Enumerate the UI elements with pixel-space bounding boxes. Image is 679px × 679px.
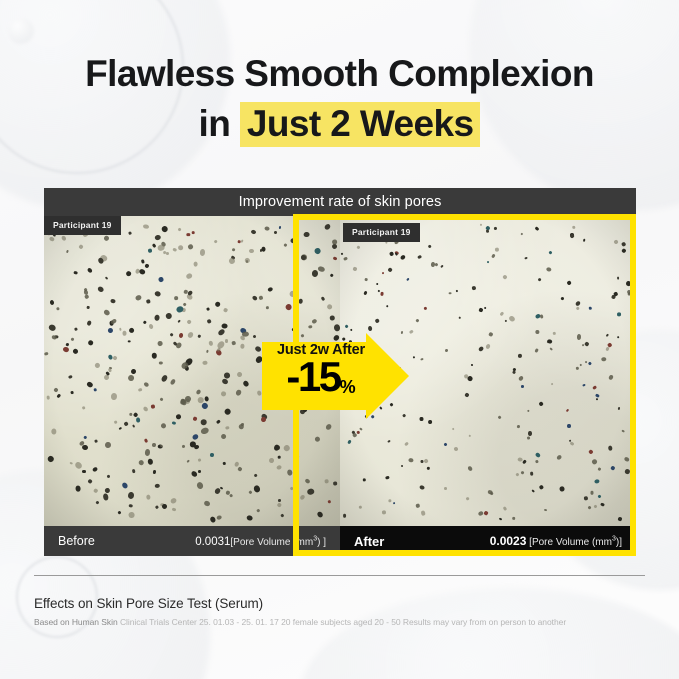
footer: Effects on Skin Pore Size Test (Serum) B…: [34, 596, 649, 627]
panel-title: Improvement rate of skin pores: [239, 194, 442, 210]
before-unit-prefix: [Pore Volume (mm: [230, 537, 313, 548]
bokeh-dot: [8, 18, 34, 44]
headline-highlight: Just 2 Weeks: [240, 102, 481, 147]
before-participant-tag: Participant 19: [44, 216, 121, 235]
after-state-label: After: [354, 534, 384, 549]
headline-line-2: in Just 2 Weeks: [0, 102, 679, 146]
arrow-shape-icon: [262, 333, 409, 419]
footer-divider: [34, 575, 645, 576]
before-unit-suffix: ) ]: [317, 537, 326, 548]
headline-prefix: in: [199, 103, 240, 144]
after-measurement: 0.0023 [Pore Volume (mm3)]: [490, 532, 622, 550]
panel-title-bar: Improvement rate of skin pores: [44, 188, 636, 216]
headline: Flawless Smooth Complexion in Just 2 Wee…: [0, 52, 679, 145]
before-measurement: 0.0031[Pore Volume (mm3) ]: [195, 532, 326, 550]
after-readout-bar: After 0.0023 [Pore Volume (mm3)]: [340, 526, 636, 556]
before-state-label: Before: [58, 534, 95, 548]
before-unit: [Pore Volume (mm3) ]: [230, 537, 326, 548]
footer-title: Effects on Skin Pore Size Test (Serum): [34, 596, 649, 611]
headline-line-1: Flawless Smooth Complexion: [0, 52, 679, 96]
footer-disclaimer: Based on Human Skin Clinical Trials Cent…: [34, 617, 649, 627]
before-value: 0.0031: [195, 536, 230, 548]
after-value: 0.0023: [490, 534, 527, 548]
improvement-callout-arrow: Just 2w After -15%: [262, 333, 409, 419]
before-readout-bar: Before 0.0031[Pore Volume (mm3) ]: [44, 526, 340, 556]
footer-disclaimer-rest: Clinical Trials Center 25. 01.03 - 25. 0…: [118, 617, 566, 627]
after-unit-prefix: [Pore Volume (mm: [526, 537, 612, 548]
after-participant-tag: Participant 19: [343, 223, 420, 242]
footer-disclaimer-strong: Based on Human Skin: [34, 617, 118, 627]
after-unit-suffix: )]: [616, 537, 622, 548]
after-unit: [Pore Volume (mm3)]: [526, 537, 622, 548]
